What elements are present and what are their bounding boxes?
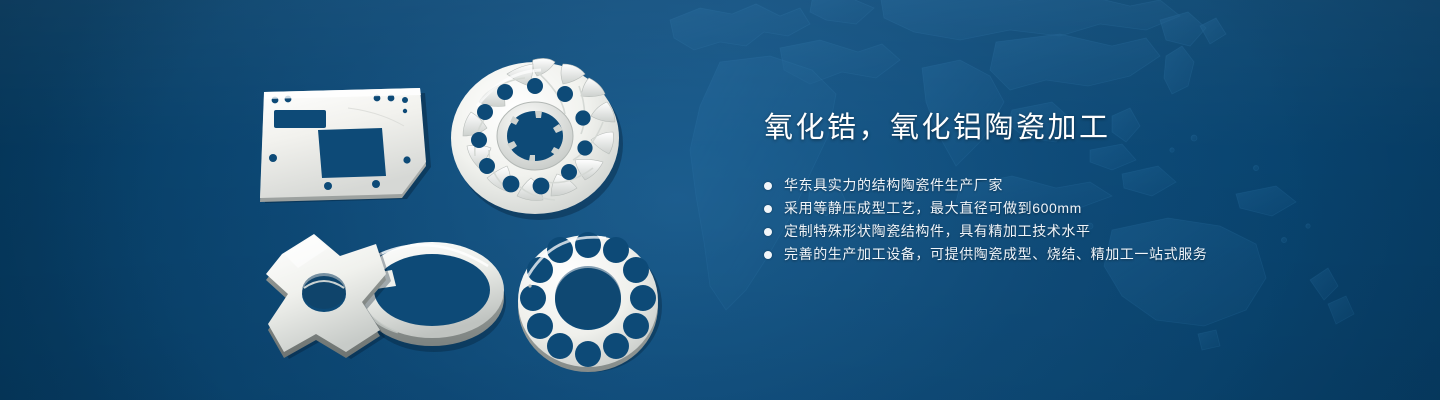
bullet-dot-icon: [764, 228, 772, 236]
feature-item: 华东具实力的结构陶瓷件生产厂家: [764, 174, 1384, 197]
banner-headline: 氧化锆，氧化铝陶瓷加工: [764, 108, 1384, 148]
ceramic-impeller: [447, 52, 625, 224]
feature-item-label: 采用等静压成型工艺，最大直径可做到600mm: [784, 197, 1082, 220]
ceramic-cross-piece: [254, 230, 400, 366]
feature-item-label: 完善的生产加工设备，可提供陶瓷成型、烧结、精加工一站式服务: [784, 243, 1207, 266]
hero-banner: 氧化锆，氧化铝陶瓷加工 华东具实力的结构陶瓷件生产厂家 采用等静压成型工艺，最大…: [0, 0, 1440, 400]
feature-item: 完善的生产加工设备，可提供陶瓷成型、烧结、精加工一站式服务: [764, 243, 1384, 266]
banner-copy: 氧化锆，氧化铝陶瓷加工 华东具实力的结构陶瓷件生产厂家 采用等静压成型工艺，最大…: [764, 108, 1384, 266]
feature-item-label: 华东具实力的结构陶瓷件生产厂家: [784, 174, 1003, 197]
bullet-dot-icon: [764, 251, 772, 259]
feature-item: 定制特殊形状陶瓷结构件，具有精加工技术水平: [764, 220, 1384, 243]
product-photo-cluster: [0, 0, 720, 400]
ceramic-plate: [252, 82, 438, 204]
bullet-dot-icon: [764, 205, 772, 213]
feature-item-label: 定制特殊形状陶瓷结构件，具有精加工技术水平: [784, 220, 1091, 243]
feature-item: 采用等静压成型工艺，最大直径可做到600mm: [764, 197, 1384, 220]
feature-list: 华东具实力的结构陶瓷件生产厂家 采用等静压成型工艺，最大直径可做到600mm 定…: [764, 174, 1384, 266]
bullet-dot-icon: [764, 182, 772, 190]
ceramic-perforated-disc: [512, 228, 668, 374]
